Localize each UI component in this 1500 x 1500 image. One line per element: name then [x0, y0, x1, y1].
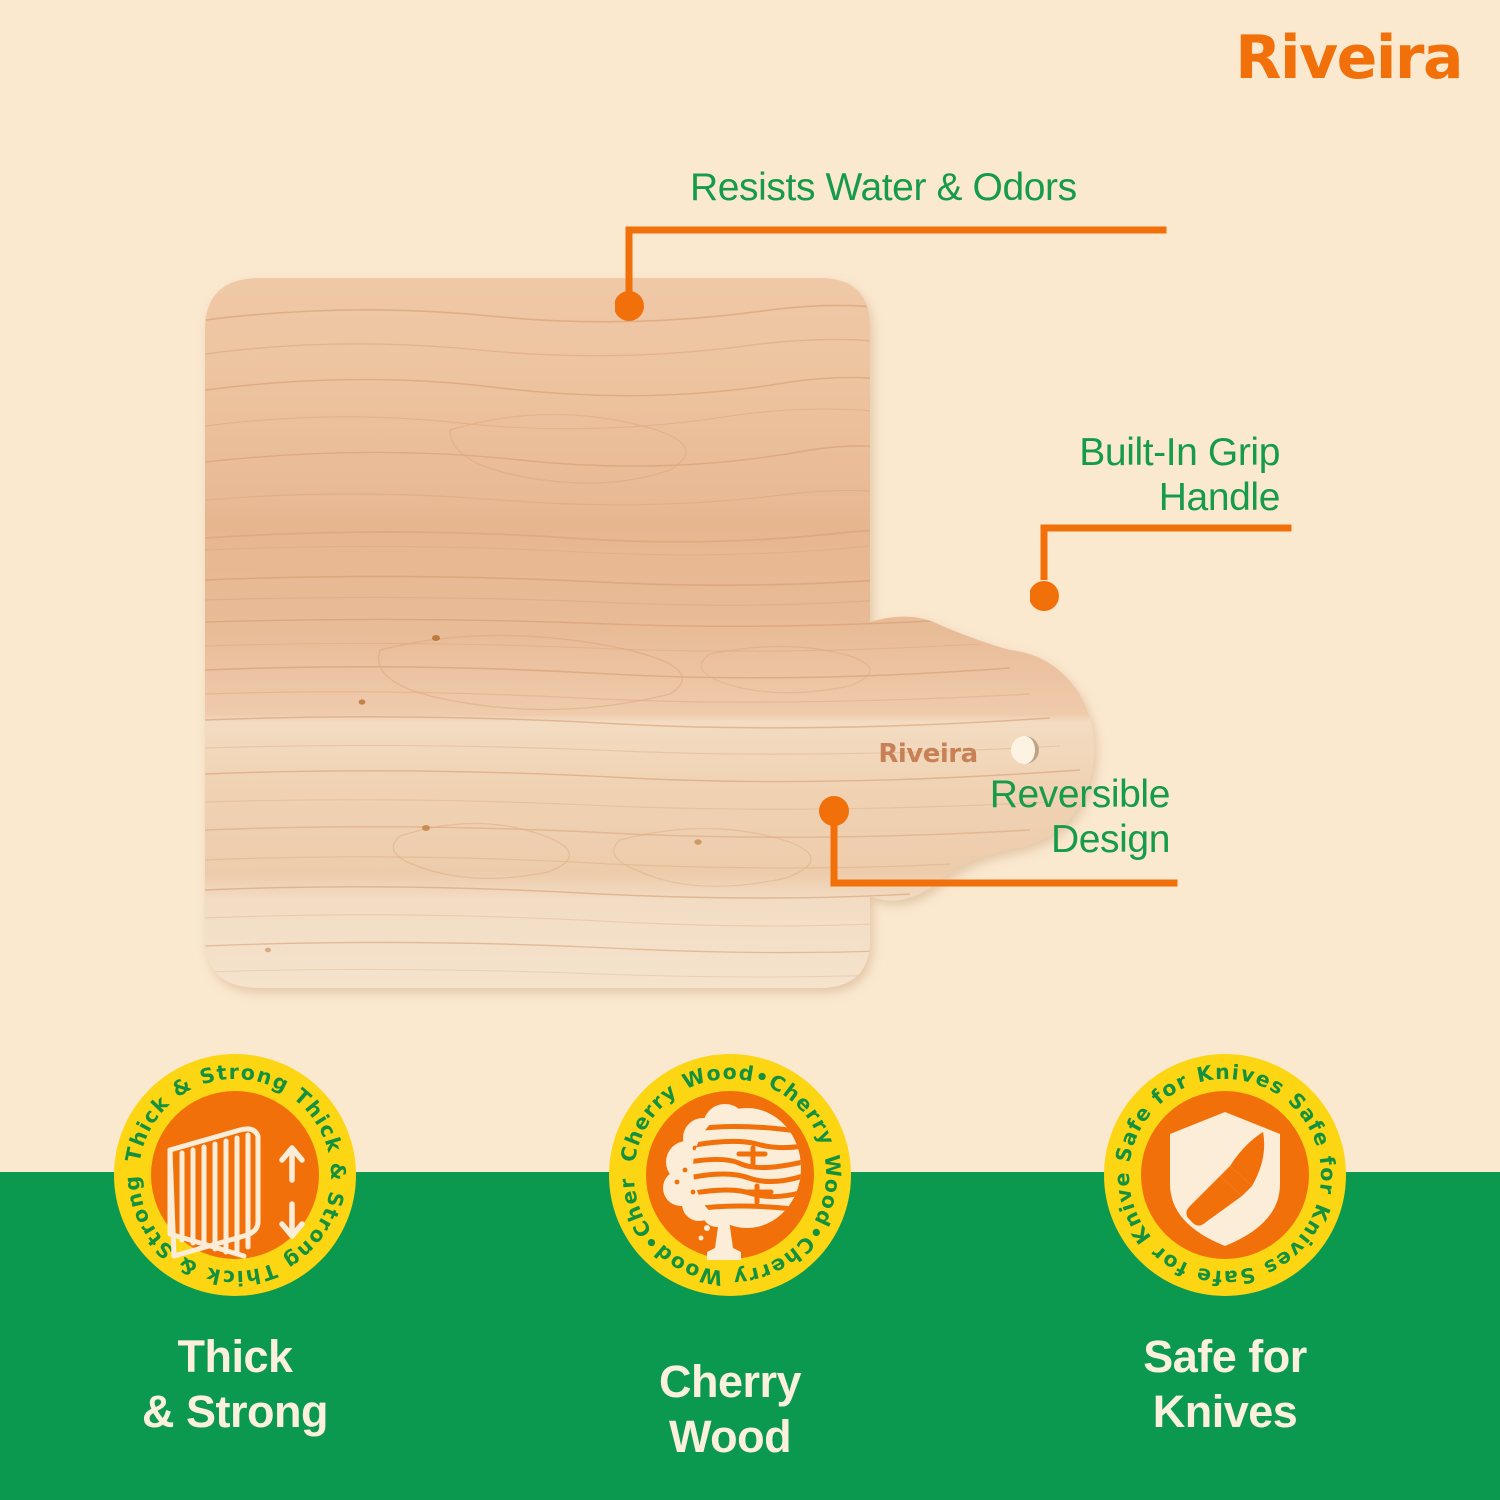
engraved-brand: Riveira — [878, 739, 977, 769]
callout-resists-water-odors: Resists Water & Odors — [690, 165, 1077, 210]
leader-line-grip-handle — [1030, 520, 1310, 630]
callout-reversible-design: Reversible Design — [900, 772, 1170, 862]
brand-logo: Riveira — [1235, 28, 1462, 88]
badge-caption-safe-for-knives: Safe for Knives — [1060, 1330, 1390, 1440]
callout-built-in-grip-handle: Built-In Grip Handle — [930, 430, 1280, 520]
badge-caption-cherry-wood: Cherry Wood — [565, 1355, 895, 1465]
infographic-canvas: Riveira — [0, 0, 1500, 1500]
badge-thick-and-strong: Thick & Strong Thick & Strong Thick & St… — [112, 1052, 358, 1298]
badge-caption-thick-and-strong: Thick & Strong — [70, 1330, 400, 1440]
badge-cherry-wood: Cherry Wood•Cherry Wood•Cherry Wood•Cher… — [607, 1052, 853, 1298]
leader-line-resists-water — [615, 220, 1175, 330]
badge-safe-for-knives: Safe for Knives Safe for Knives Safe for… — [1102, 1052, 1348, 1298]
